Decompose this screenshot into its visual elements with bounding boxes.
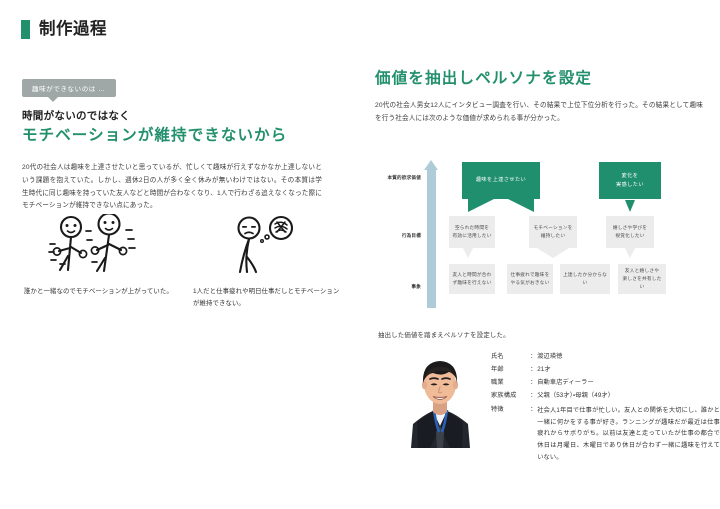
single-stick-figure-tired-icon [193,212,344,278]
persona-key-name: 氏名 [491,352,530,365]
lead-subheading: 時間がないのではなく [22,108,340,123]
goal-box-tail [537,248,569,258]
event-box-no-progress-feedback-label: 上達したか分からない [563,271,607,287]
persona-row-family: 家族構成 ： 父親（53才）・母親（49才） [491,391,720,404]
value-bubble-tail-right [508,199,534,212]
persona-value-age: 21才 [537,365,720,378]
goal-box-use-time-label: 空られた時間を 有効に活用したい [452,224,491,240]
problem-body-text: 20代の社会人は趣味を上達させたいと思っているが、忙しくて趣味が行えずなかなか上… [22,162,322,213]
value-axis-arrow-icon: 本質的欲求価値 行為目標 事象 [424,160,439,308]
illustration-row: 誰かと一緒なのでモチベーションが上がっていた。 [24,212,344,309]
persona-block: 氏名 ： 渡辺瑛徳 年齢 ： 21才 職業 ： 自動車店ディーラー 家族構成 ：… [403,352,720,467]
persona-key-traits: 特徴 [491,405,530,467]
goal-box-tail [463,248,473,258]
event-box-share-joy: 友人と嬉しさや 楽しさを共有したい [618,264,666,294]
persona-row-traits: 特徴 ： 社会人1年目で仕事が忙しい。友人との関係を大切にし、誰かと一緒に何かを… [491,405,720,467]
goal-box-tail [625,248,635,258]
value-bubble-improve-hobby-label: 趣味を上達させたい [476,176,526,185]
illustration-caption-motivated: 誰かと一緒なのでモチベーションが上がっていた。 [24,286,175,298]
problem-tag-label: 趣味ができないのは … [32,86,105,93]
persona-colon: ： [530,405,537,467]
page-title: 制作過程 [39,21,107,38]
right-column: 価値を抽出しペルソナを設定 20代の社会人男女12人にインタビュー調査を行い、そ… [375,70,705,126]
persona-value-name: 渡辺瑛徳 [537,352,720,365]
two-stick-figures-motivated-icon [24,212,175,278]
lead-heading: モチベーションが維持できないから [22,127,340,145]
left-column: 趣味ができないのは … 時間がないのではなく モチベーションが維持できないから … [22,78,340,213]
value-bubble-feel-change-label: 変化を 実感したい [616,172,644,189]
illustration-cell-motivated: 誰かと一緒なのでモチベーションが上がっていた。 [24,212,175,309]
illustration-cell-tired: 1人だと仕事疲れや明日仕事だしとモチベーションが維持できない。 [193,212,344,309]
persona-colon: ： [530,352,537,365]
value-bubble-feel-change: 変化を 実感したい [599,162,661,199]
persona-lead-text: 抽出した価値を踏まえペルソナを設定した。 [378,330,510,339]
persona-value-traits: 社会人1年目で仕事が忙しい。友人との関係を大切にし、誰かと一緒に何かをする事が好… [537,405,720,467]
persona-key-family: 家族構成 [491,391,530,404]
event-box-schedule-mismatch: 友人と時間が合わ ず趣味を行えない [449,264,495,294]
illustration-caption-tired: 1人だと仕事疲れや明日仕事だしとモチベーションが維持できない。 [193,286,344,309]
persona-row-name: 氏名 ： 渡辺瑛徳 [491,352,720,365]
value-bubble-improve-hobby: 趣味を上達させたい [462,162,540,199]
axis-label-essential-value: 本質的欲求価値 [387,175,421,181]
axis-label-action-goal: 行為目標 [402,233,421,239]
goal-box-keep-motivation: モチベーションを 維持したい [529,216,577,248]
value-bubble-tail-left [468,199,494,212]
axis-label-event: 事象 [411,284,421,290]
event-box-no-progress-feedback: 上達したか分からない [560,264,610,294]
value-extraction-diagram: 本質的欲求価値 行為目標 事象 趣味を上達させたい 変化を 実感したい 空られた… [388,158,708,310]
problem-tag-badge: 趣味ができないのは … [22,79,116,97]
persona-key-age: 年齢 [491,365,530,378]
goal-box-visualize-joy-label: 嬉しさや学びを 視覚化したい [613,224,647,240]
goal-box-visualize-joy: 嬉しさや学びを 視覚化したい [606,216,654,248]
persona-row-age: 年齢 ： 21才 [491,365,720,378]
event-box-work-fatigue: 仕事疲れで趣味を やる気がおきない [507,264,553,294]
header-accent-marker [21,20,30,39]
persona-value-occupation: 自動車店ディーラー [537,378,720,391]
goal-box-keep-motivation-label: モチベーションを 維持したい [533,224,572,240]
persona-colon: ： [530,365,537,378]
section-title: 価値を抽出しペルソナを設定 [375,70,705,87]
value-bubble-tail-center [625,200,635,212]
persona-colon: ： [530,378,537,391]
event-box-schedule-mismatch-label: 友人と時間が合わ ず趣味を行えない [452,271,491,287]
persona-colon: ： [530,391,537,404]
event-box-share-joy-label: 友人と嬉しさや 楽しさを共有したい [621,267,663,292]
persona-portrait-photo [403,352,477,448]
persona-detail-table: 氏名 ： 渡辺瑛徳 年齢 ： 21才 職業 ： 自動車店ディーラー 家族構成 ：… [491,352,720,467]
axis-shaft [427,169,436,308]
persona-value-family: 父親（53才）・母親（49才） [537,391,720,404]
goal-box-use-time: 空られた時間を 有効に活用したい [449,216,495,248]
persona-key-occupation: 職業 [491,378,530,391]
persona-row-occupation: 職業 ： 自動車店ディーラー [491,378,720,391]
event-box-work-fatigue-label: 仕事疲れで趣味を やる気がおきない [510,271,549,287]
section-lead-text: 20代の社会人男女12人にインタビュー調査を行い、その結果で上位下位分析を行った… [375,100,703,126]
page-header: 制作過程 [21,20,107,39]
